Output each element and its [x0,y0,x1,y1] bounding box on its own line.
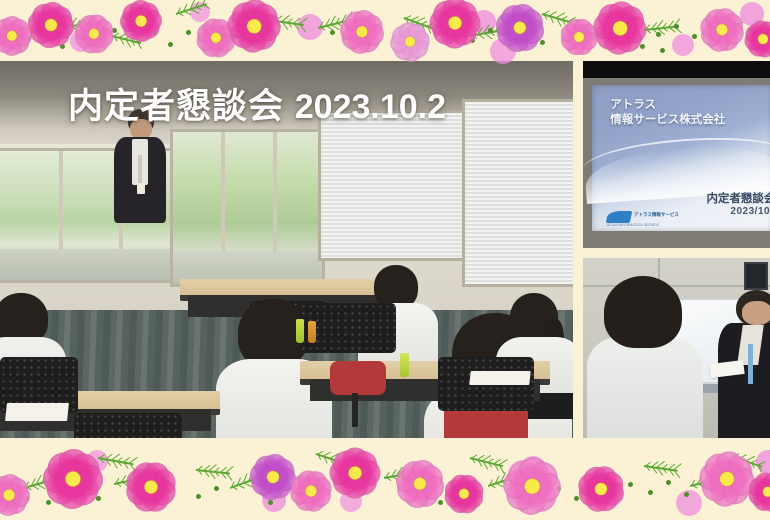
flower-petal [528,484,557,513]
flower-petal [583,488,611,516]
flower-petal [439,0,471,24]
student-head [604,276,683,348]
flower-petal [256,476,285,505]
flower-petal [715,29,741,55]
flower-petal [557,30,580,53]
flower-center [612,20,628,36]
paper-1 [5,403,69,421]
page-title: 内定者懇談会 2023.10.2 [68,85,446,129]
flower-center [457,487,471,501]
cosmos-flower [68,8,120,60]
flower-petal [463,478,488,503]
flower-petal [513,27,541,55]
flower-center [303,483,318,498]
window-center [170,129,325,287]
flower-petal [696,13,723,40]
flower-petal [740,29,764,53]
decor-dot [470,38,475,43]
decor-blob [190,2,210,22]
flower-petal [72,461,110,499]
flower-petal [140,7,167,34]
cosmos-flower [695,447,759,511]
decor-dot [656,32,661,37]
flower-petal [122,477,153,508]
flower-petal [442,477,465,500]
flower-petal [78,33,102,57]
flower-petal [301,490,328,517]
flower-center [266,470,280,484]
decor-dot [152,30,157,35]
decor-dot [648,490,653,495]
bottle-3 [400,353,409,377]
flower-petal [703,5,729,31]
cosmos-flower [382,14,438,64]
flower-petal [286,481,313,508]
flower-petal [338,472,370,504]
flower-petal [501,27,531,57]
flower-petal [194,21,217,44]
cosmos-flower [0,14,34,57]
decor-dot [592,484,597,489]
flower-petal [616,27,644,55]
flower-petal [11,18,31,38]
flower-petal [231,0,258,27]
decor-dot [186,30,191,35]
flower-petal [324,456,356,488]
flower-petal [354,457,386,489]
flower-petal [239,0,272,27]
flower-petal [53,478,91,516]
chair-left-2 [74,413,182,438]
decor-dot [330,30,335,35]
flower-center [142,478,159,495]
flower-petal [11,24,37,50]
flower-petal [619,13,652,46]
decor-blob [472,10,496,34]
flower-petal [413,483,441,511]
flower-petal [440,486,465,511]
flower-petal [130,486,159,515]
decor-dot [438,500,443,505]
flower-petal [86,11,110,35]
flower-petal [338,27,363,52]
flower-petal [50,13,79,42]
flower-petal [512,485,548,520]
flower-petal [71,27,95,51]
flower-petal [0,34,13,54]
flower-petal [150,466,181,497]
flower-petal [600,480,628,508]
logo-mark-icon [605,211,632,223]
decor-blob [262,488,286,512]
flower-petal [353,472,378,497]
decor-dot [702,482,707,487]
flower-petal [47,451,76,480]
decor-blob [756,450,770,474]
flower-petal [245,460,274,489]
flower-petal [393,42,413,62]
decor-blob [520,456,546,482]
cosmos-flower [189,11,244,64]
flower-petal [762,24,770,48]
fern-leaf [403,16,436,30]
decor-dot [620,30,625,35]
flower-petal [306,468,329,491]
flower-petal [0,35,24,61]
flower-petal [752,468,770,493]
decor-dot [252,22,256,26]
flower-petal [751,491,770,514]
fern-leaf [644,24,678,31]
decor-dot [710,26,715,31]
decor-dot [46,500,51,505]
decor-blob [616,8,642,34]
flower-petal [725,455,754,484]
fern-leaf [316,452,347,465]
decor-dot [524,30,529,35]
decor-dot [46,30,51,35]
flower-petal [272,465,301,494]
flower-petal [409,27,435,53]
flower-petal [721,21,748,48]
flower-border-bottom [0,438,770,520]
flower-petal [394,477,422,505]
flower-petal [87,33,111,57]
cosmos-flower [694,2,750,58]
flower-petal [581,463,609,491]
flower-petal [332,450,357,475]
flower-petal [150,478,179,507]
flower-petal [50,4,75,29]
flower-petal [516,451,552,487]
flower-center [761,485,770,499]
flower-petal [619,5,647,33]
flower-center [355,25,369,39]
company-logo: アトラス情報サービス ATLAS INFORMATION SERVICE [607,209,679,227]
flower-petal [215,32,238,55]
flower-petal [332,471,357,496]
decor-dot [204,40,209,45]
decor-dot [214,486,219,491]
flower-petal [572,36,595,59]
paper-3 [469,371,530,385]
decor-dot [96,40,101,45]
decor-dot [556,486,561,491]
cosmos-flower [120,0,162,42]
decor-dot [12,504,17,509]
flower-petal [0,11,25,37]
flower-petal [705,29,732,56]
flower-petal [531,470,567,506]
flower-petal [713,4,740,31]
cosmos-flower [437,467,491,520]
flower-petal [453,22,478,47]
flower-petal [250,25,277,52]
flower-petal [77,11,101,35]
flower-petal [509,0,539,29]
flower-petal [210,16,233,39]
flower-petal [391,465,421,495]
flower-border-top [0,0,770,64]
flower-petal [30,1,55,26]
flower-petal [721,11,747,37]
flower-petal [594,24,622,52]
flower-petal [399,458,427,486]
flower-petal [588,9,621,42]
logo-text-bottom: ATLAS INFORMATION SERVICE [607,223,659,227]
flower-petal [199,37,222,60]
cosmos-flower [328,446,381,499]
fern-leaf [176,2,207,15]
flower-petal [293,490,316,513]
decor-dot [26,36,31,41]
flower-petal [115,8,142,35]
flower-petal [597,2,625,30]
flower-petal [563,15,586,38]
flower-center [348,466,362,480]
decor-dot [692,34,697,39]
flower-petal [448,470,473,495]
flower-center [512,20,528,36]
flower-petal [431,21,456,46]
flower-petal [140,2,159,21]
flower-petal [27,20,52,45]
flower-petal [123,21,142,40]
slide-room-ceiling [583,61,770,78]
flower-petal [759,491,770,516]
fern-leaf [731,454,762,468]
flower-petal [419,463,447,491]
flower-petal [122,3,141,22]
flower-petal [762,35,770,55]
flower-petal [141,20,160,39]
decor-dot [740,484,745,489]
flower-center [412,476,428,492]
flower-petal [310,474,337,501]
slide-company-name: アトラス 情報サービス株式会社 [610,98,725,128]
flower-petal [253,3,280,30]
flower-petal [519,7,547,35]
flower-petal [505,482,534,511]
flower-petal [249,472,275,498]
flower-center [593,481,609,497]
flower-center [756,32,770,46]
decor-blob [0,484,22,512]
flower-petal [410,39,430,59]
fern-leaf [690,477,720,487]
decor-blob [70,30,92,52]
flower-petal [409,455,439,485]
flower-petal [572,15,594,37]
flower-petal [339,442,371,474]
flower-petal [10,35,30,55]
decor-dot [640,44,645,49]
decor-dot [748,28,753,33]
decor-blob [600,482,624,506]
flower-petal [71,18,95,42]
fern-leaf [384,470,418,479]
flower-petal [288,473,311,496]
flower-petal [222,8,255,41]
flower-petal [46,24,71,49]
decor-blob [672,34,694,56]
flower-petal [253,11,286,44]
fern-leaf [196,468,230,475]
flower-petal [0,17,14,37]
cosmos-flower [571,459,631,519]
flower-center [715,23,730,38]
flower-petal [557,21,579,43]
decor-dot [540,40,545,45]
flower-petal [200,14,225,39]
flower-petal [722,477,751,506]
flower-petal [23,8,52,37]
decor-dot [112,28,117,33]
poster-canvas: 内定者懇談会 2023.10.2 アトラス 情報サービス株式会社 内定者懇談会 … [0,0,770,520]
bottle-2 [308,321,316,343]
decor-dot [574,496,579,501]
flower-petal [454,7,486,39]
flower-petal [5,494,27,516]
cosmos-flower [282,462,340,520]
flower-center [136,16,147,27]
flower-petal [272,457,298,483]
flower-center [448,16,462,30]
cosmos-flower [741,465,770,520]
cosmos-flower [737,13,770,64]
cosmos-flower [590,0,650,58]
flower-petal [447,493,470,516]
cosmos-flower [225,0,284,55]
flower-petal [8,483,35,510]
flower-center [524,478,540,494]
decor-dot [666,480,671,485]
fern-leaf [488,475,517,487]
decor-dot [96,496,101,501]
slide-date: 2023/10 [730,206,770,217]
decor-dot [684,492,689,497]
flower-petal [123,466,152,495]
flower-center [209,31,223,45]
flower-petal [746,475,769,498]
window-blind-1 [318,110,468,261]
flower-petal [141,486,172,517]
fern-leaf [114,475,146,485]
flower-petal [0,469,24,496]
flower-petal [294,466,321,493]
flower-petal [8,476,30,498]
chair-red-1 [330,361,386,395]
flower-petal [592,462,620,490]
decor-dot [82,478,87,483]
flower-petal [575,481,603,509]
flower-petal [694,459,728,493]
slide-company-line2: 情報サービス株式会社 [610,113,725,128]
flower-petal [192,29,217,54]
flower-center [572,30,585,43]
flower-petal [494,21,522,49]
decor-blob [297,14,323,40]
decor-blob [740,2,764,26]
flower-petal [712,446,746,480]
decor-dot [420,494,425,499]
flower-petal [128,20,155,47]
bottle-1 [296,319,304,343]
slide-photo: アトラス 情報サービス株式会社 内定者懇談会 2023/10 アトラス情報サービ… [583,61,770,248]
flower-petal [759,19,770,39]
decor-dot [346,22,351,27]
decor-dot [60,44,65,49]
wall-seam-1 [583,285,770,287]
fern-leaf [318,18,352,29]
flower-petal [438,22,470,54]
flower-petal [335,15,363,43]
student-body [587,337,703,438]
decor-dot [506,40,511,45]
flower-petal [726,464,760,498]
flower-petal [0,474,13,496]
flower-petal [130,458,161,489]
flower-center [403,35,418,50]
flower-petal [424,6,456,38]
fern-leaf [98,456,134,465]
decor-dot [168,42,173,47]
flower-petal [39,0,68,26]
cosmos-flower [245,449,301,505]
flower-petal [497,466,533,502]
flower-petal [127,0,154,22]
decor-dot [622,46,627,51]
decor-dot [674,24,679,29]
flower-petal [0,491,10,513]
flower-petal [743,23,763,43]
decor-dot [10,28,15,33]
cosmos-flower [500,454,563,517]
cosmos-flower [0,471,33,520]
flower-petal [507,459,536,488]
flower-petal [228,22,255,49]
flower-petal [253,453,279,479]
slide-company-line1: アトラス [610,98,725,113]
flower-center [719,471,736,488]
flower-petal [354,450,379,475]
flower-petal [491,9,521,39]
fern-leaf [711,14,740,28]
staff-face [742,301,770,324]
decor-dot [268,500,273,505]
flower-petal [454,0,479,25]
decor-dot [638,22,643,27]
flower-petal [703,451,732,480]
flower-petal [71,453,100,482]
title-main: 内定者懇談会 [68,87,284,126]
flower-petal [456,493,481,518]
flower-petal [142,459,171,488]
decor-dot [2,482,8,488]
projector-screen: アトラス 情報サービス株式会社 内定者懇談会 2023/10 アトラス情報サービ… [592,85,770,231]
flower-petal [419,473,449,503]
fern-leaf [470,456,504,467]
cosmos-flower [41,447,105,511]
window-blind-2 [462,99,573,288]
flower-petal [747,38,767,58]
flower-petal [605,0,638,29]
flower-petal [55,443,93,481]
fern-leaf [112,34,142,44]
flower-petal [351,5,379,33]
decor-dot [196,494,201,499]
decor-dot [488,28,493,33]
